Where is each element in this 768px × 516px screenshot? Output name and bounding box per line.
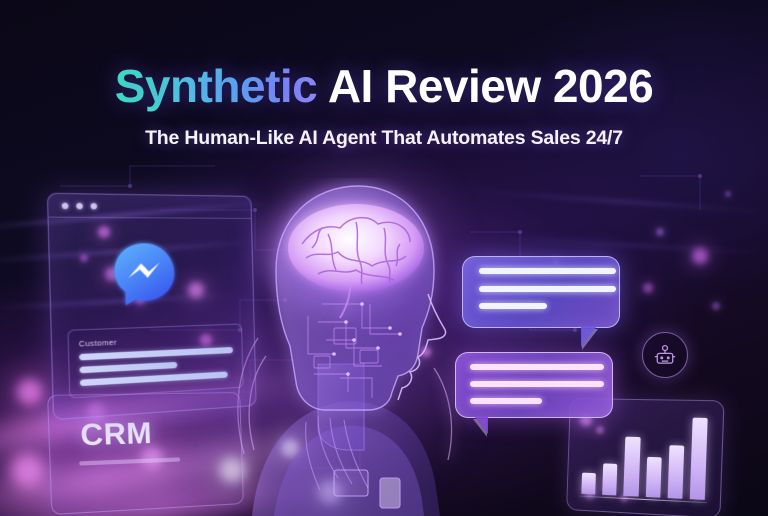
bokeh-dot — [725, 191, 731, 197]
window-dot-minimize-icon[interactable] — [76, 202, 83, 209]
bar-chart-bar — [667, 445, 684, 498]
bokeh-dot — [17, 379, 43, 405]
chat-bubble-text-line — [479, 303, 548, 309]
chat-bubble-incoming[interactable] — [462, 256, 620, 328]
window-dot-close-icon[interactable] — [62, 202, 69, 209]
title-plain-words: AI Review 2026 — [317, 60, 653, 112]
chat-bubble-tail — [581, 326, 597, 347]
chat-bubble-tail — [474, 416, 488, 434]
chat-bubble-outgoing[interactable] — [455, 352, 613, 418]
facebook-messenger-icon[interactable] — [109, 239, 180, 309]
customer-field-label: Customer — [79, 333, 233, 349]
form-field-row[interactable] — [79, 347, 233, 360]
form-field-row[interactable] — [80, 371, 228, 386]
bokeh-dot — [712, 302, 720, 310]
chat-bubble-text-line — [479, 286, 616, 292]
bokeh-dot — [656, 228, 664, 236]
browser-window-card[interactable]: Customer — [47, 193, 257, 420]
crm-placeholder-bar — [79, 457, 180, 465]
title-gradient-word: Synthetic — [115, 60, 318, 112]
form-field-row[interactable] — [79, 362, 177, 373]
hero-headline-block: Synthetic AI Review 2026 The Human-Like … — [0, 0, 768, 150]
bar-chart-bar — [581, 473, 596, 495]
bokeh-dot — [11, 453, 45, 487]
hero-banner-canvas: Synthetic AI Review 2026 The Human-Like … — [0, 0, 768, 516]
bokeh-dot — [643, 283, 653, 293]
bar-chart-bar — [645, 457, 661, 498]
window-dot-maximize-icon[interactable] — [90, 202, 97, 208]
bar-chart-bar — [624, 436, 641, 496]
browser-titlebar — [48, 194, 251, 219]
bar-chart-bar — [690, 418, 708, 500]
bar-chart-bars — [581, 415, 707, 500]
page-subtitle: The Human-Like AI Agent That Automates S… — [0, 127, 768, 150]
chat-bubble-text-line — [470, 398, 542, 404]
bar-chart-bar — [602, 463, 617, 495]
bokeh-dot — [692, 248, 708, 264]
chat-bubble-text-line — [470, 364, 604, 370]
crm-label: CRM — [80, 417, 153, 454]
robot-assistant-badge[interactable] — [642, 332, 688, 378]
chat-bubble-text-line — [479, 268, 616, 274]
page-title: Synthetic AI Review 2026 — [0, 62, 768, 110]
ai-humanoid-head-illustration — [222, 178, 472, 516]
chat-bubble-text-line — [470, 381, 604, 387]
robot-head-icon — [652, 342, 678, 368]
customer-form-block: Customer — [67, 323, 243, 398]
